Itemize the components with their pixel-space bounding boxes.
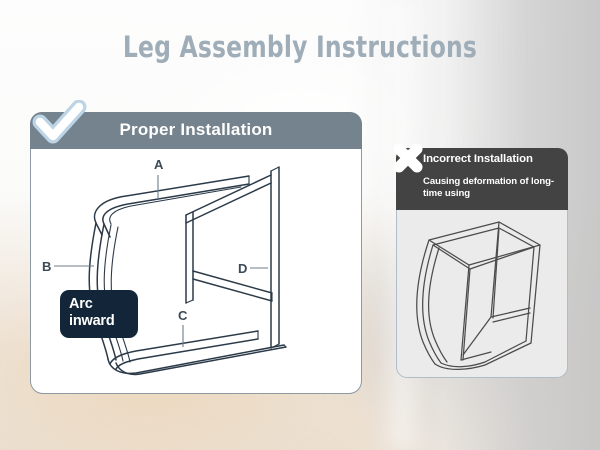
label-b-text: B bbox=[42, 259, 51, 274]
label-d-text: D bbox=[238, 261, 247, 276]
label-a-text: A bbox=[154, 157, 164, 172]
proper-installation-figure-area: A B C D bbox=[36, 153, 356, 390]
page-title: Leg Assembly Instructions bbox=[30, 30, 570, 64]
incorrect-installation-figure-area bbox=[399, 212, 565, 375]
incorrect-frame-diagram bbox=[399, 212, 565, 375]
arc-inward-callout: Arc inward bbox=[60, 290, 138, 338]
proper-frame-diagram: A B C D bbox=[36, 153, 356, 390]
x-icon bbox=[388, 138, 428, 178]
arc-inward-label: Arc inward bbox=[69, 296, 138, 329]
incorrect-installation-subtitle: Causing deformation of long-time using bbox=[423, 176, 559, 199]
check-icon bbox=[32, 100, 88, 150]
incorrect-installation-title: Incorrect Installation bbox=[423, 153, 563, 165]
instruction-graphic: Leg Assembly Instructions bbox=[0, 0, 600, 450]
label-c-text: C bbox=[178, 308, 188, 323]
